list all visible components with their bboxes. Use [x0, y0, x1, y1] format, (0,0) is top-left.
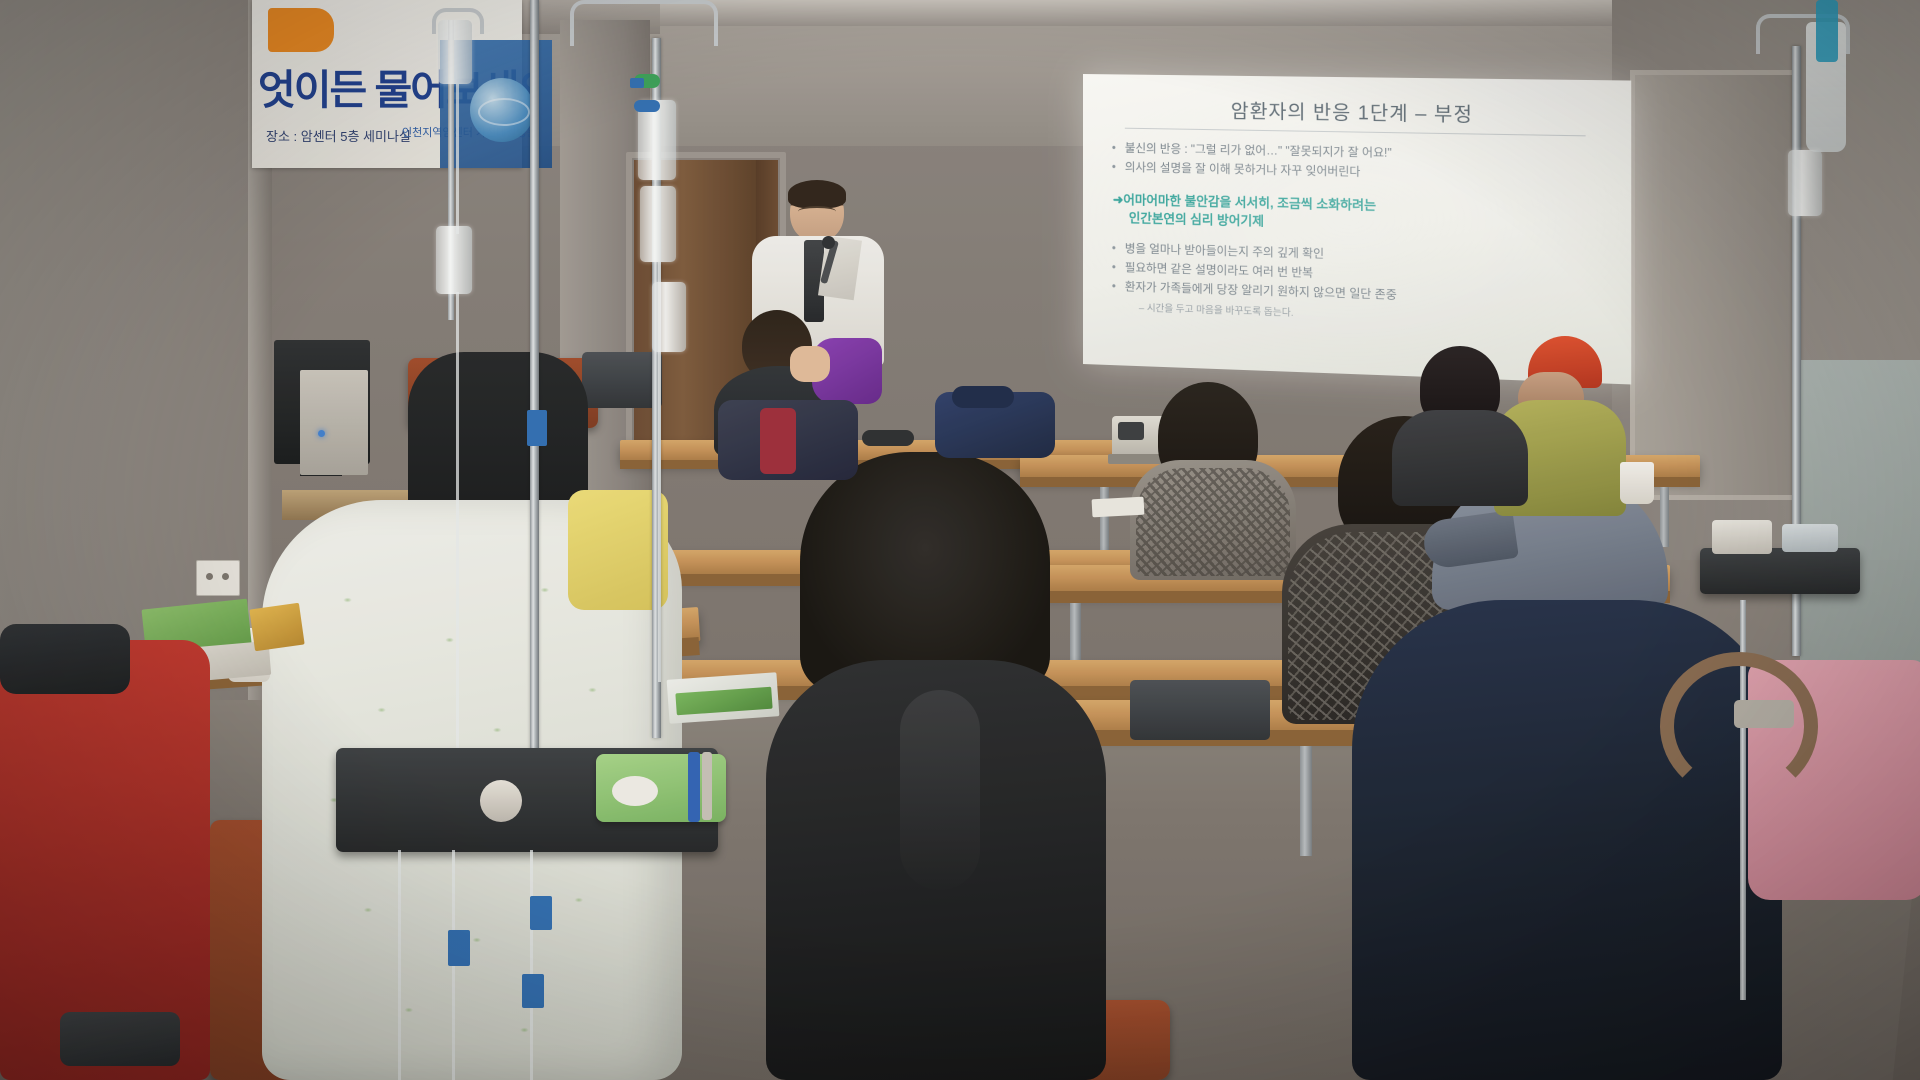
- iv-drip-chamber-b3: [652, 282, 686, 352]
- tray-round-item: [480, 780, 522, 822]
- pen-blue[interactable]: [688, 752, 700, 822]
- iv-cap-blue-b: [634, 100, 660, 112]
- attendee8-torso: [1392, 410, 1528, 506]
- iv-clamp-blue-d[interactable]: [522, 974, 544, 1008]
- attendee4-pattern: [1136, 468, 1290, 576]
- slide-title: 암환자의 반응 1단계 – 부정: [1099, 94, 1614, 129]
- handbag-clasp: [1734, 700, 1794, 728]
- presenter-hair: [788, 180, 846, 208]
- right-wall-door[interactable]: [1630, 70, 1800, 500]
- iv-drip-chamber-c: [1788, 150, 1822, 216]
- socket-hole-icon: [206, 573, 213, 580]
- iv-tube-a2: [456, 292, 459, 752]
- slide-divider: [1125, 128, 1586, 137]
- glasses-icon: [798, 206, 836, 217]
- iv-tube-dangle-3: [530, 850, 533, 1080]
- iv-label-teal: [1816, 0, 1838, 62]
- iv-tube-dangle-1: [398, 850, 401, 1080]
- chair-mid-right[interactable]: [1130, 680, 1270, 740]
- slide-highlight: ➜어마어마한 불안감을 서서히, 조금씩 소화하려는 인간본연의 심리 방어기제: [1113, 190, 1614, 240]
- iv-drip-chamber-b2: [640, 186, 676, 262]
- attendee3-collar-sheen: [900, 690, 980, 890]
- microphone-head-icon: [822, 236, 835, 249]
- desk-leg: [1100, 487, 1109, 555]
- projector-lens-icon: [1118, 422, 1144, 440]
- iv-drip-chamber-a: [438, 20, 472, 84]
- iv-drip-chamber-b: [638, 100, 676, 180]
- tray-right-item: [1712, 520, 1772, 554]
- iv-drip-chamber-a2: [436, 226, 472, 294]
- red-bag-top-flap: [0, 624, 130, 694]
- projection-screen: 암환자의 반응 1단계 – 부정 불신의 반응 : "그럴 리가 없어…" "잘…: [1083, 74, 1631, 384]
- iv-clamp-blue-a[interactable]: [527, 410, 547, 446]
- desk-leg: [1660, 487, 1669, 547]
- backpack-handle: [952, 386, 1014, 408]
- banner-orange-shape: [268, 8, 334, 52]
- attendee1-hand: [790, 346, 830, 382]
- slide-content: 암환자의 반응 1단계 – 부정 불신의 반응 : "그럴 리가 없어…" "잘…: [1083, 74, 1631, 384]
- banner-subtitle: 장소 : 암센터 5층 세미나실: [266, 126, 411, 145]
- chair-dark-rear[interactable]: [582, 352, 662, 408]
- computer-tower[interactable]: [300, 370, 368, 475]
- notebook-label: [612, 776, 658, 806]
- slide-bullets-top: 불신의 반응 : "그럴 리가 없어…" "잘못되지가 잘 어요!" 의사의 설…: [1099, 140, 1614, 187]
- orange-leaflet[interactable]: [249, 603, 304, 652]
- iv-tray-right[interactable]: [1700, 548, 1860, 594]
- eyeglasses-icon: [862, 430, 914, 446]
- globe-icon: [470, 78, 534, 142]
- iv-clamp-blue-c[interactable]: [448, 930, 470, 966]
- pen-grey[interactable]: [702, 752, 712, 820]
- tray-right-item-2: [1782, 524, 1838, 552]
- red-strap: [760, 408, 796, 474]
- iv-clamp-blue-e[interactable]: [530, 896, 552, 930]
- power-led-icon: [318, 430, 325, 437]
- paper-cup-right[interactable]: [1620, 462, 1654, 504]
- iv-hook-b: [570, 0, 718, 46]
- attendee3-hair: [800, 452, 1050, 692]
- photo-scene: 엇이든 물어보세요 장소 : 암센터 5층 세미나실 인천지역암센터 가천대길병…: [0, 0, 1920, 1080]
- socket-hole-icon: [222, 573, 229, 580]
- desk-leg: [1300, 746, 1312, 856]
- floor-item-dark: [60, 1012, 180, 1066]
- power-outlet[interactable]: [196, 560, 240, 596]
- iv-tube-a: [456, 84, 459, 234]
- iv-clamp-blue-b: [630, 78, 644, 88]
- handout-paper-2[interactable]: [1092, 497, 1145, 518]
